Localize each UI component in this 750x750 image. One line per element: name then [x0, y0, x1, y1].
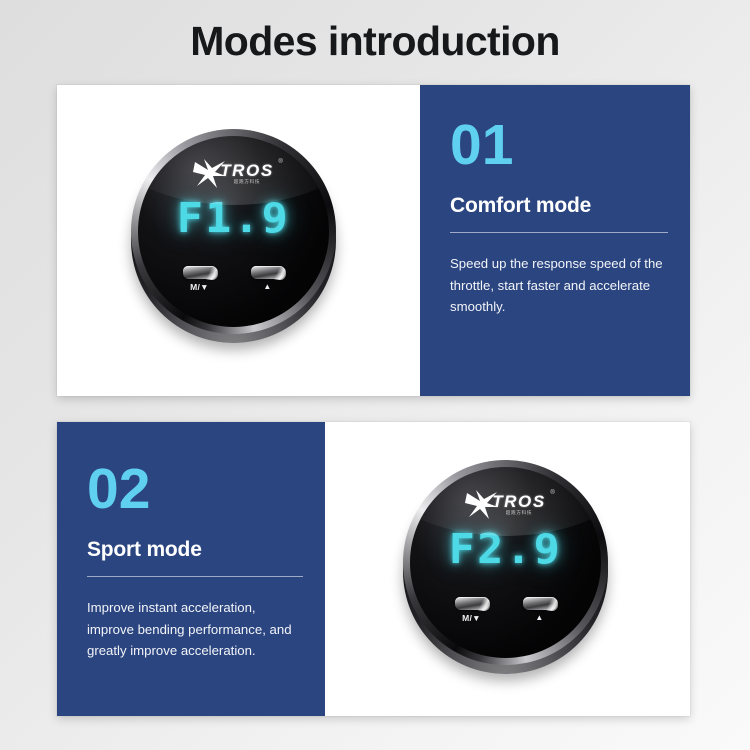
divider: [450, 232, 668, 233]
device-button-row: M/▼ ▲: [410, 597, 601, 623]
device-button-row: M/▼ ▲: [138, 266, 329, 292]
device-face: TROS ® 超跑方科技 F1.9 M/▼ ▲: [138, 136, 329, 327]
throttle-controller-device-comfort: TROS ® 超跑方科技 F1.9 M/▼ ▲: [131, 129, 346, 344]
brand-wordmark: TROS ® 超跑方科技: [492, 490, 546, 516]
up-button-label: ▲: [263, 283, 271, 291]
info-panel-comfort: 01 Comfort mode Speed up the response sp…: [420, 85, 690, 396]
led-display-value: F1.9: [177, 194, 290, 242]
button-cap: [455, 597, 489, 610]
brand-name: TROS: [220, 162, 274, 179]
device-face: TROS ® 超跑方科技 F2.9 M/▼ ▲: [410, 467, 601, 658]
led-display-sport: F2.9: [410, 525, 601, 573]
up-button-label: ▲: [535, 614, 543, 622]
button-cap: [251, 266, 285, 279]
up-button[interactable]: ▲: [248, 266, 288, 292]
button-cap: [183, 266, 217, 279]
mode-down-button-label: M/▼: [462, 614, 481, 623]
divider: [87, 576, 303, 577]
mode-down-button-label: M/▼: [190, 283, 209, 292]
led-display-value: F2.9: [449, 525, 562, 573]
throttle-controller-device-sport: TROS ® 超跑方科技 F2.9 M/▼ ▲: [403, 460, 618, 675]
brand-subtitle: 超跑方科技: [492, 511, 546, 516]
registered-trademark-icon: ®: [550, 490, 554, 496]
page-title: Modes introduction: [0, 18, 750, 65]
brand-wordmark: TROS ® 超跑方科技: [220, 159, 274, 185]
brand-logo: TROS ® 超跑方科技: [138, 159, 329, 189]
up-button[interactable]: ▲: [520, 597, 560, 623]
mode-card-sport: 02 Sport mode Improve instant accelerati…: [57, 422, 690, 716]
mode-description-sport: Improve instant acceleration, improve be…: [87, 597, 303, 661]
led-display-comfort: F1.9: [138, 194, 329, 242]
mode-title-comfort: Comfort mode: [450, 194, 668, 218]
mode-title-sport: Sport mode: [87, 538, 303, 562]
brand-logo: TROS ® 超跑方科技: [410, 490, 601, 520]
device-panel-comfort: TROS ® 超跑方科技 F1.9 M/▼ ▲: [57, 85, 420, 396]
mode-card-comfort: TROS ® 超跑方科技 F1.9 M/▼ ▲: [57, 85, 690, 396]
registered-trademark-icon: ®: [278, 159, 282, 165]
mode-number-sport: 02: [87, 462, 303, 516]
mode-description-comfort: Speed up the response speed of the throt…: [450, 253, 668, 317]
mode-down-button[interactable]: M/▼: [452, 597, 492, 623]
brand-subtitle: 超跑方科技: [220, 180, 274, 185]
brand-name: TROS: [492, 493, 546, 510]
info-panel-sport: 02 Sport mode Improve instant accelerati…: [57, 422, 325, 716]
device-panel-sport: TROS ® 超跑方科技 F2.9 M/▼ ▲: [325, 422, 690, 716]
mode-down-button[interactable]: M/▼: [180, 266, 220, 292]
button-cap: [523, 597, 557, 610]
mode-number-comfort: 01: [450, 118, 668, 172]
